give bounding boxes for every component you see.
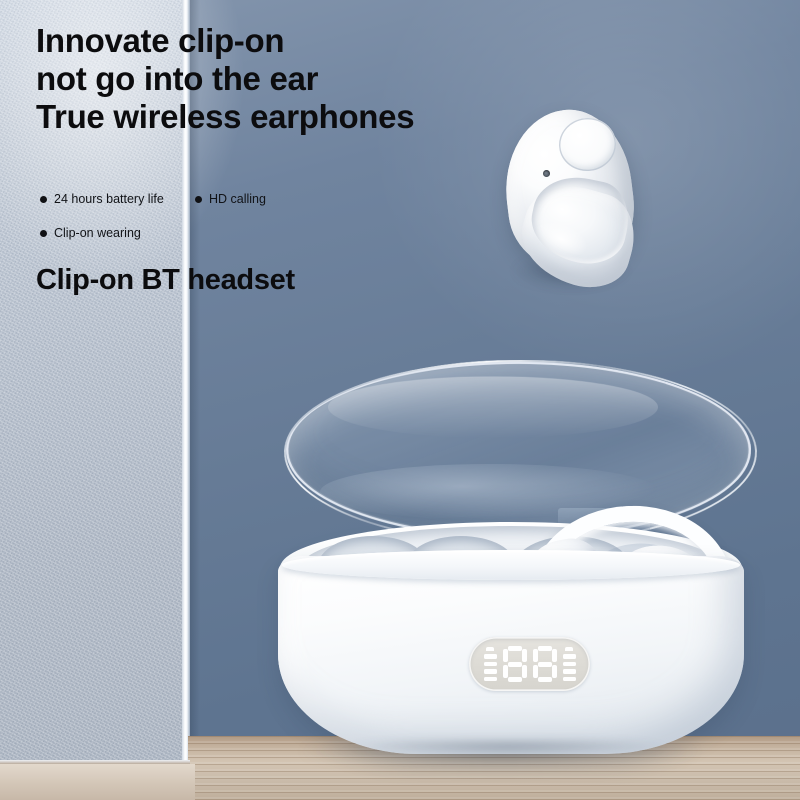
feature-label: HD calling — [209, 192, 266, 206]
headline-line-1: Innovate clip-on — [36, 22, 556, 60]
feature-item-clip-on: Clip-on wearing — [40, 226, 141, 240]
product-banner: Innovate clip-on not go into the ear Tru… — [0, 0, 800, 800]
feature-row-1: 24 hours battery life HD calling Clip-on… — [40, 192, 340, 224]
battery-bar-left-icon — [484, 647, 497, 681]
floor-baseboard — [0, 760, 190, 764]
headline-line-2: not go into the ear — [36, 60, 556, 98]
case-lid-gloss — [327, 376, 659, 438]
feature-item-hd-calling: HD calling — [195, 192, 266, 206]
led-digit-2 — [533, 646, 557, 682]
case-contact-shadow — [348, 740, 668, 756]
charging-case — [258, 360, 778, 780]
feature-label: Clip-on wearing — [54, 226, 141, 240]
feature-list: 24 hours battery life HD calling Clip-on… — [40, 192, 340, 224]
floor-left — [0, 764, 195, 800]
battery-bar-right-icon — [563, 647, 576, 681]
headline-block: Innovate clip-on not go into the ear Tru… — [36, 22, 556, 136]
case-body-lip — [282, 550, 740, 580]
bullet-dot-icon — [40, 196, 47, 203]
feature-label: 24 hours battery life — [54, 192, 164, 206]
product-subheadline: Clip-on BT headset — [36, 264, 295, 297]
feature-item-battery: 24 hours battery life — [40, 192, 164, 206]
microphone-hole-icon — [543, 170, 550, 177]
led-battery-display — [469, 637, 590, 691]
led-digit-1 — [503, 646, 527, 682]
bullet-dot-icon — [195, 196, 202, 203]
bullet-dot-icon — [40, 230, 47, 237]
headline-line-3: True wireless earphones — [36, 98, 556, 136]
